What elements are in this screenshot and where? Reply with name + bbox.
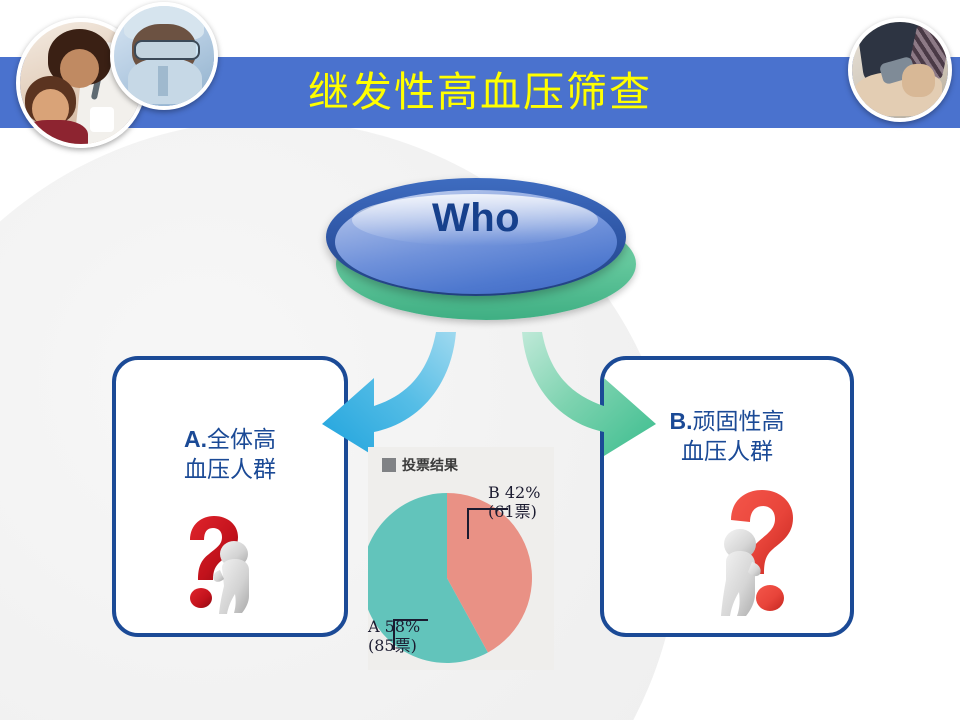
blood-pressure-photo	[848, 18, 952, 122]
option-a-letter: A.	[184, 426, 207, 452]
who-button[interactable]: Who	[326, 170, 636, 320]
option-a-line2: 血压人群	[184, 457, 276, 483]
option-a-line1: 全体高	[207, 427, 276, 453]
pie-label-a-votes: (85票)	[368, 636, 420, 655]
question-mark-icon	[154, 510, 272, 622]
surgeon-photo	[110, 2, 218, 110]
question-mark-icon	[698, 482, 820, 622]
option-b-line1: 顽固性高	[693, 409, 785, 435]
option-a-box[interactable]: A.全体高 血压人群	[112, 356, 348, 637]
who-button-label: Who	[326, 196, 626, 241]
pie-label-a-percent: A 58%	[368, 617, 420, 636]
slide-canvas: 继发性高血压筛查	[0, 0, 960, 720]
who-button-rim: Who	[326, 178, 626, 296]
arrow-to-option-b	[520, 330, 660, 460]
pie-label-b: B 42% (61票)	[488, 483, 540, 521]
pie-label-a: A 58% (85票)	[368, 617, 420, 655]
arrow-to-option-a	[318, 330, 458, 460]
option-b-letter: B.	[670, 408, 693, 434]
option-b-line2: 血压人群	[681, 439, 773, 465]
pie-label-b-percent: B 42%	[488, 483, 540, 502]
option-a-label: A.全体高 血压人群	[116, 424, 344, 485]
pie-label-b-votes: (61票)	[488, 502, 540, 521]
vote-result-chart: 投票结果 B 42% (61票) A 58% (85票)	[368, 447, 554, 670]
